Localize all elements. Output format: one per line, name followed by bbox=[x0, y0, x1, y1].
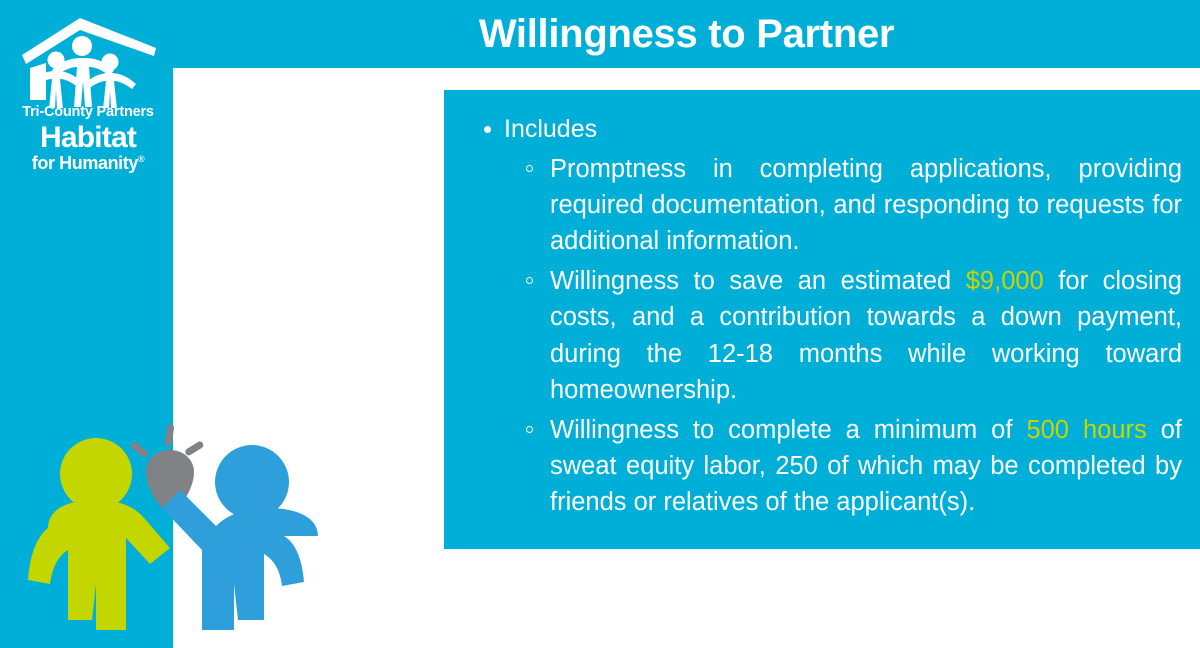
bullet-filled-icon bbox=[484, 126, 491, 133]
slide: Willingness to Partner Tri-County Partne… bbox=[0, 0, 1200, 648]
logo-wordmark: Tri-County Partners Habitat for Humanity… bbox=[8, 104, 168, 173]
bullet-list-level-1: Includes Promptness in completing applic… bbox=[462, 114, 1182, 521]
logo-line-tri-county: Tri-County Partners bbox=[8, 104, 168, 121]
logo-line-for-humanity-text: for Humanity bbox=[32, 153, 138, 173]
bullet-hollow-icon bbox=[526, 165, 533, 172]
page-title: Willingness to Partner bbox=[173, 0, 1200, 68]
bullet-hollow-icon bbox=[526, 277, 533, 284]
highlighted-value: $9,000 bbox=[966, 267, 1044, 295]
highlighted-value: 500 hours bbox=[1026, 416, 1146, 444]
habitat-roof-and-people-icon bbox=[14, 8, 164, 108]
list-item-promptness: Promptness in completing applications, p… bbox=[504, 151, 1182, 260]
bullet-text: Willingness to save an estimated bbox=[550, 267, 966, 295]
bullet-text: Promptness in completing applications, p… bbox=[550, 155, 1182, 255]
content-panel: Includes Promptness in completing applic… bbox=[444, 90, 1200, 549]
list-item-savings: Willingness to save an estimated $9,000 … bbox=[504, 263, 1182, 408]
logo-line-habitat: Habitat bbox=[8, 123, 168, 153]
bullet-list-level-2: Promptness in completing applications, p… bbox=[504, 151, 1182, 521]
logo-line-for-humanity: for Humanity® bbox=[8, 154, 168, 173]
bullet-hollow-icon bbox=[526, 426, 533, 433]
two-people-high-five-illustration bbox=[18, 418, 348, 640]
list-item-sweat-equity: Willingness to complete a minimum of 500… bbox=[504, 412, 1182, 521]
includes-label: Includes bbox=[504, 115, 597, 143]
registered-trademark-icon: ® bbox=[138, 154, 144, 164]
logo: Tri-County Partners Habitat for Humanity… bbox=[8, 6, 168, 186]
bullet-text: Willingness to complete a minimum of bbox=[550, 416, 1026, 444]
list-item-includes: Includes Promptness in completing applic… bbox=[462, 114, 1182, 521]
